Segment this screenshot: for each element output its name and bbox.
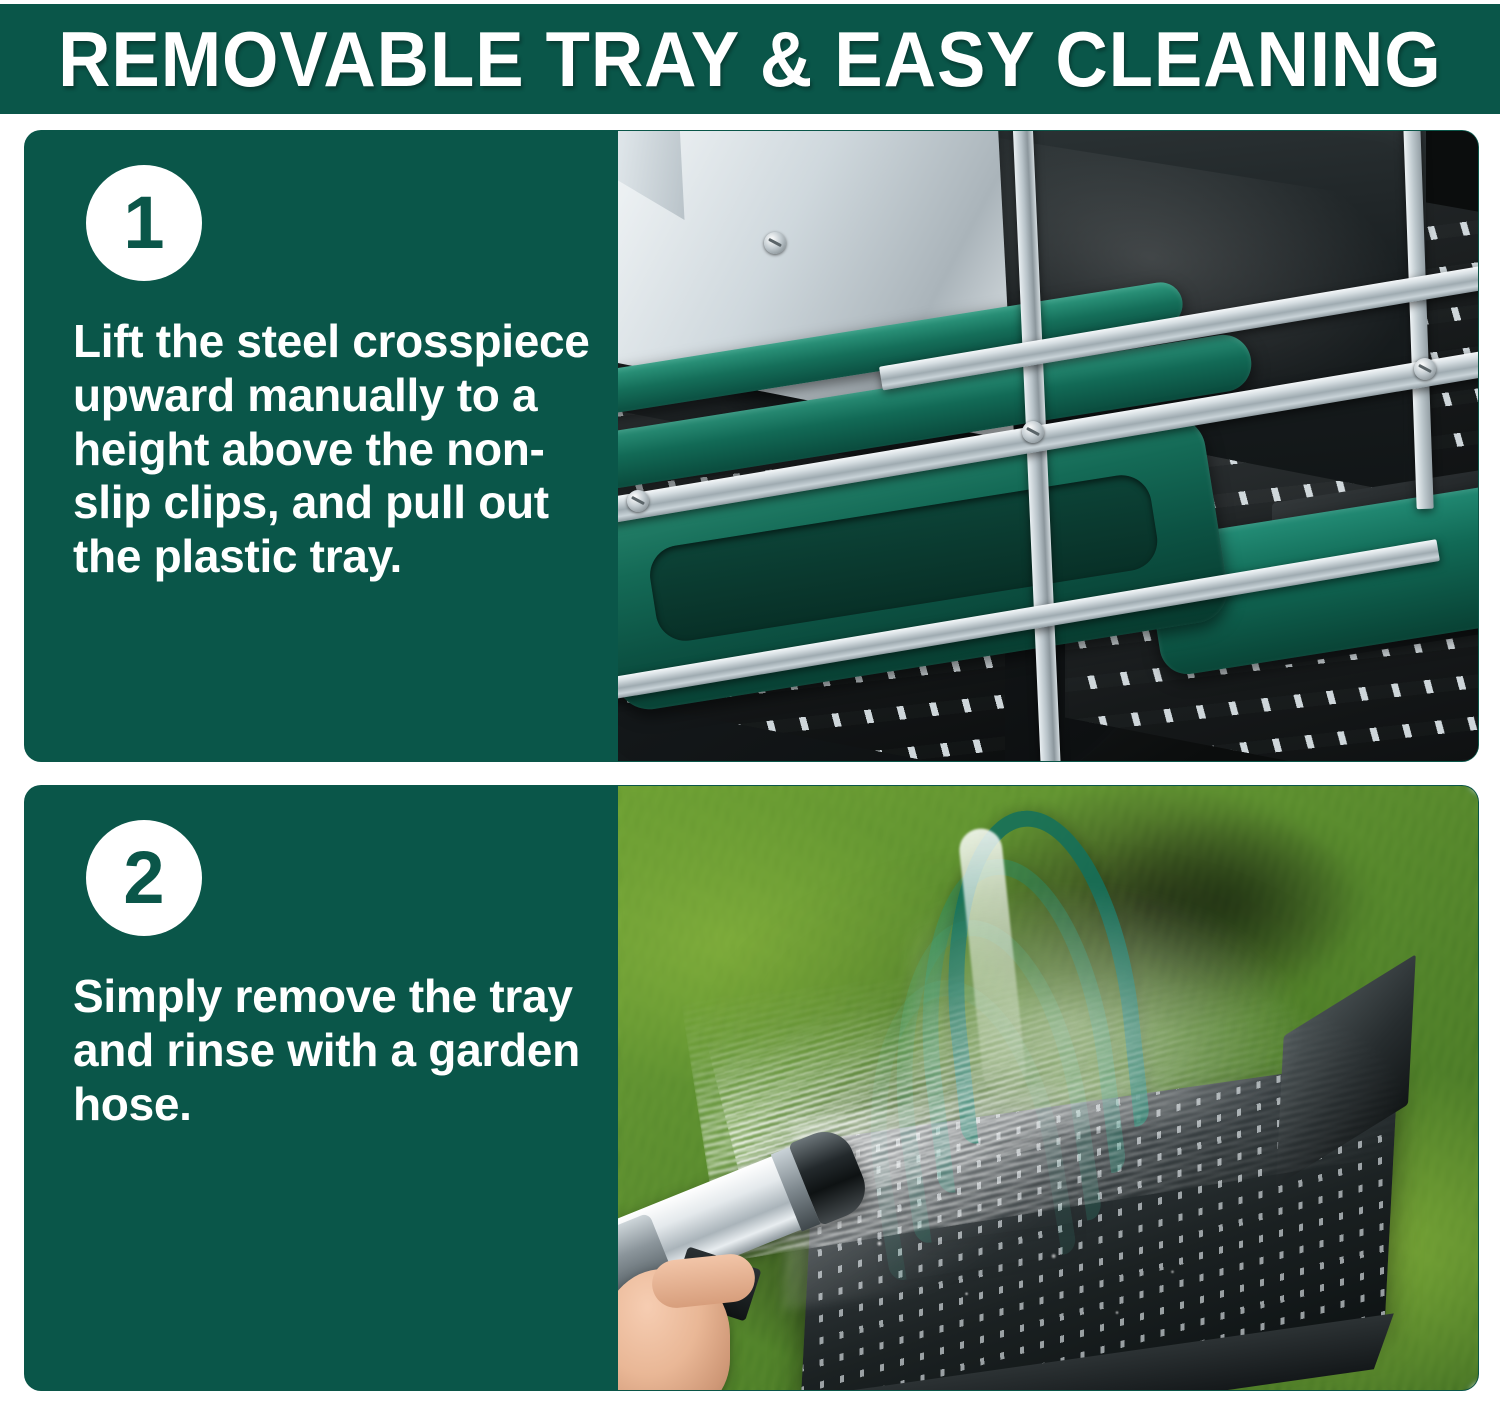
step-card-1: 1 Lift the steel crosspiece upward manua… [25, 131, 1478, 761]
header-banner: REMOVABLE TRAY & EASY CLEANING [0, 4, 1500, 114]
photo1-screw-left [627, 490, 649, 512]
photo1-screw-center [1022, 421, 1044, 443]
step-2-photo [618, 786, 1478, 1390]
step-1-description: Lift the steel crosspiece upward manuall… [73, 315, 592, 584]
photo1-screw-right [1414, 358, 1436, 380]
photo1-hood-face [618, 131, 685, 221]
step-1-photo [618, 131, 1478, 761]
step-2-number-badge: 2 [86, 820, 202, 936]
page-title: REMOVABLE TRAY & EASY CLEANING [58, 20, 1442, 98]
step-1-text-column: 1 Lift the steel crosspiece upward manua… [25, 131, 618, 761]
step-2-text-column: 2 Simply remove the tray and rinse with … [25, 786, 618, 1390]
photo1-screw-upper-left [764, 232, 786, 254]
photo2-water-droplets [824, 1209, 1220, 1366]
step-card-2: 2 Simply remove the tray and rinse with … [25, 786, 1478, 1390]
step-1-number-badge: 1 [86, 165, 202, 281]
step-2-description: Simply remove the tray and rinse with a … [73, 970, 592, 1131]
